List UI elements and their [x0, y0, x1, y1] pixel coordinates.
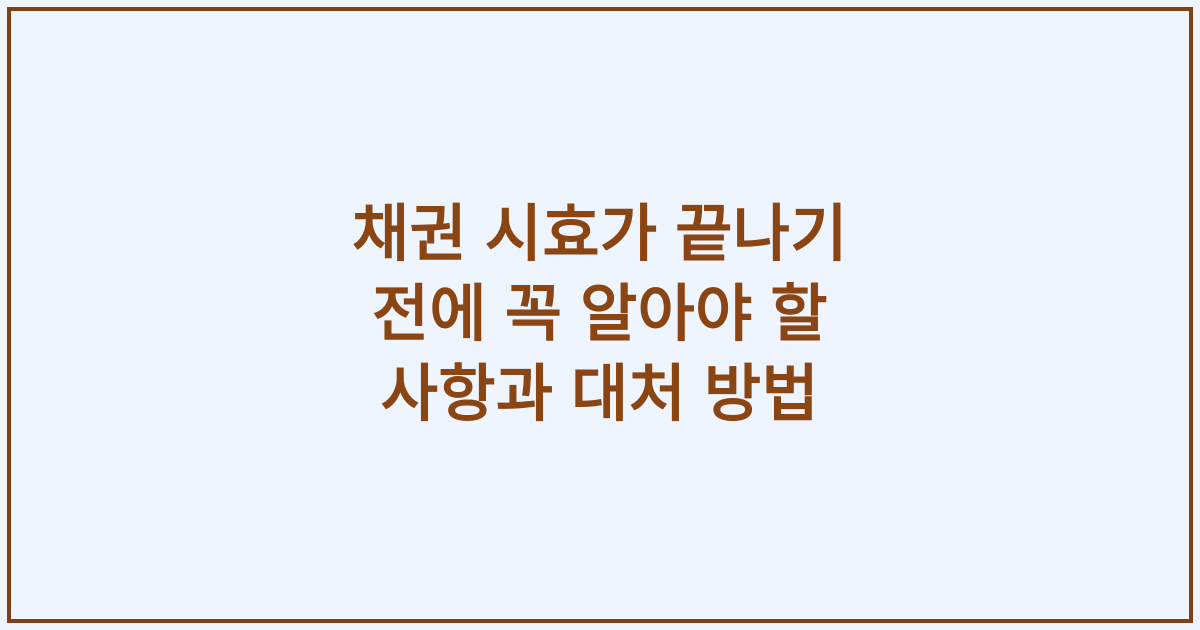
headline-line-1: 채권 시효가 끝나기	[352, 195, 848, 275]
thumbnail-card: 채권 시효가 끝나기 전에 꼭 알아야 할 사항과 대처 방법	[0, 0, 1200, 630]
headline-line-2: 전에 꼭 알아야 할	[352, 275, 848, 355]
headline-container: 채권 시효가 끝나기 전에 꼭 알아야 할 사항과 대처 방법	[0, 0, 1200, 630]
page-title: 채권 시효가 끝나기 전에 꼭 알아야 할 사항과 대처 방법	[352, 195, 848, 435]
headline-line-3: 사항과 대처 방법	[352, 355, 848, 435]
